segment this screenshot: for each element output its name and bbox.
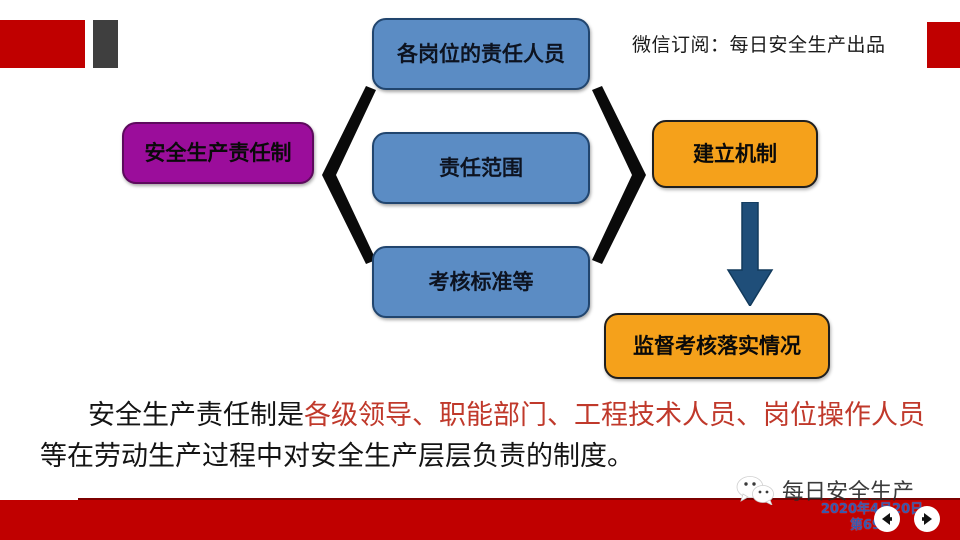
arrow-down-icon <box>726 202 774 306</box>
decor-bar-red-left <box>0 20 85 68</box>
diagram-node-branch-3[interactable]: 考核标准等 <box>372 246 590 318</box>
diagram-node-outcome-2[interactable]: 监督考核落实情况 <box>604 313 830 379</box>
decor-bar-red-right <box>927 22 960 68</box>
nav-next-button[interactable] <box>914 506 940 532</box>
body-segment-1: 安全生产责任制是 <box>88 400 304 431</box>
diagram-node-branch-1[interactable]: 各岗位的责任人员 <box>372 18 590 90</box>
nav-prev-button[interactable] <box>874 506 900 532</box>
watermark-header-text: 微信订阅：每日安全生产出品 <box>632 30 886 57</box>
body-segment-2-highlight: 各级领导、职能部门、工程技术人员、岗位操作人员 <box>304 400 925 431</box>
wechat-icon <box>736 475 776 505</box>
diagram-node-outcome-1[interactable]: 建立机制 <box>652 120 818 188</box>
arrow-right-circle-icon <box>919 511 935 527</box>
decor-bar-gray <box>93 20 118 68</box>
arrow-left-circle-icon <box>879 511 895 527</box>
slide-canvas: 微信订阅：每日安全生产出品 安全生产责任制 各岗位的责任人员 责任范围 考核标准… <box>0 0 960 540</box>
body-paragraph: 安全生产责任制是各级领导、职能部门、工程技术人员、岗位操作人员等在劳动生产过程中… <box>40 396 930 477</box>
body-segment-3: 等在劳动生产过程中对安全生产层层负责的制度。 <box>40 441 634 472</box>
diagram-node-branch-2[interactable]: 责任范围 <box>372 132 590 204</box>
diagram-node-root[interactable]: 安全生产责任制 <box>122 122 314 184</box>
angle-bracket-left-icon <box>322 86 376 264</box>
angle-bracket-right-icon <box>592 86 646 264</box>
